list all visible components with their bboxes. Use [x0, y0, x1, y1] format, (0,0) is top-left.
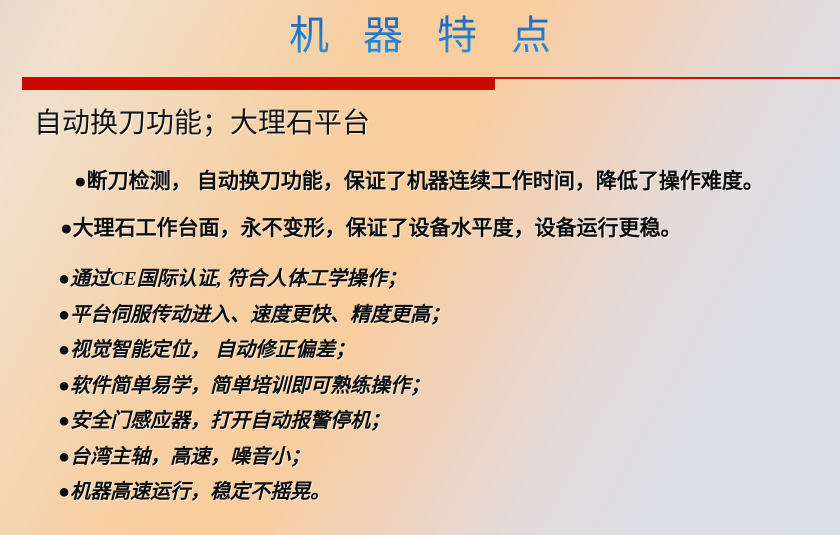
feature-list: ●通过CE国际认证, 符合人体工学操作； ●平台伺服传动进入、速度更快、精度更高…: [58, 262, 450, 511]
list-item: ●台湾主轴，高速，噪音小；: [58, 440, 450, 476]
list-item-label: 平台伺服传动进入、速度更快、精度更高；: [70, 304, 450, 326]
slide-canvas: 机 器 特 点 自动换刀功能；大理石平台 ●断刀检测， 自动换刀功能，保证了机器…: [0, 0, 840, 535]
list-item-label: 视觉智能定位， 自动修正偏差；: [70, 339, 355, 361]
bullet-dot-icon: ●: [58, 410, 70, 432]
page-title: 机 器 特 点: [277, 8, 563, 64]
list-item: ●软件简单易学，简单培训即可熟练操作；: [58, 369, 450, 405]
list-item-label: 台湾主轴，高速，噪音小；: [70, 446, 310, 468]
list-item: ●机器高速运行，稳定不摇晃。: [58, 475, 450, 511]
list-item-label: 软件简单易学，简单培训即可熟练操作；: [70, 375, 430, 397]
bullet-dot-icon: ●: [58, 446, 70, 468]
bullet-dot-icon: ●: [58, 304, 70, 326]
divider-thick-bar: [22, 77, 495, 90]
list-item-label: 机器高速运行，稳定不摇晃。: [70, 481, 330, 503]
bullet-dot-icon: ●: [58, 339, 70, 361]
title-divider: [0, 70, 840, 92]
list-item: ●安全门感应器，打开自动报警停机；: [58, 404, 450, 440]
title-area: 机 器 特 点: [0, 8, 840, 70]
bullet-dot-icon: ●: [58, 481, 70, 503]
list-item-label: 通过CE国际认证, 符合人体工学操作；: [70, 268, 407, 290]
list-item: ●通过CE国际认证, 符合人体工学操作；: [58, 262, 450, 298]
list-item-label: 安全门感应器，打开自动报警停机；: [70, 410, 390, 432]
section-headline: 自动换刀功能；大理石平台: [34, 106, 370, 142]
list-item: ●视觉智能定位， 自动修正偏差；: [58, 333, 450, 369]
primary-bullet-1: ●断刀检测， 自动换刀功能，保证了机器连续工作时间，降低了操作难度。: [74, 166, 764, 196]
bullet-dot-icon: ●: [58, 375, 70, 397]
bullet-dot-icon: ●: [58, 268, 70, 290]
primary-bullet-2: ●大理石工作台面，永不变形，保证了设备水平度，设备运行更稳。: [60, 213, 682, 243]
list-item: ●平台伺服传动进入、速度更快、精度更高；: [58, 298, 450, 334]
